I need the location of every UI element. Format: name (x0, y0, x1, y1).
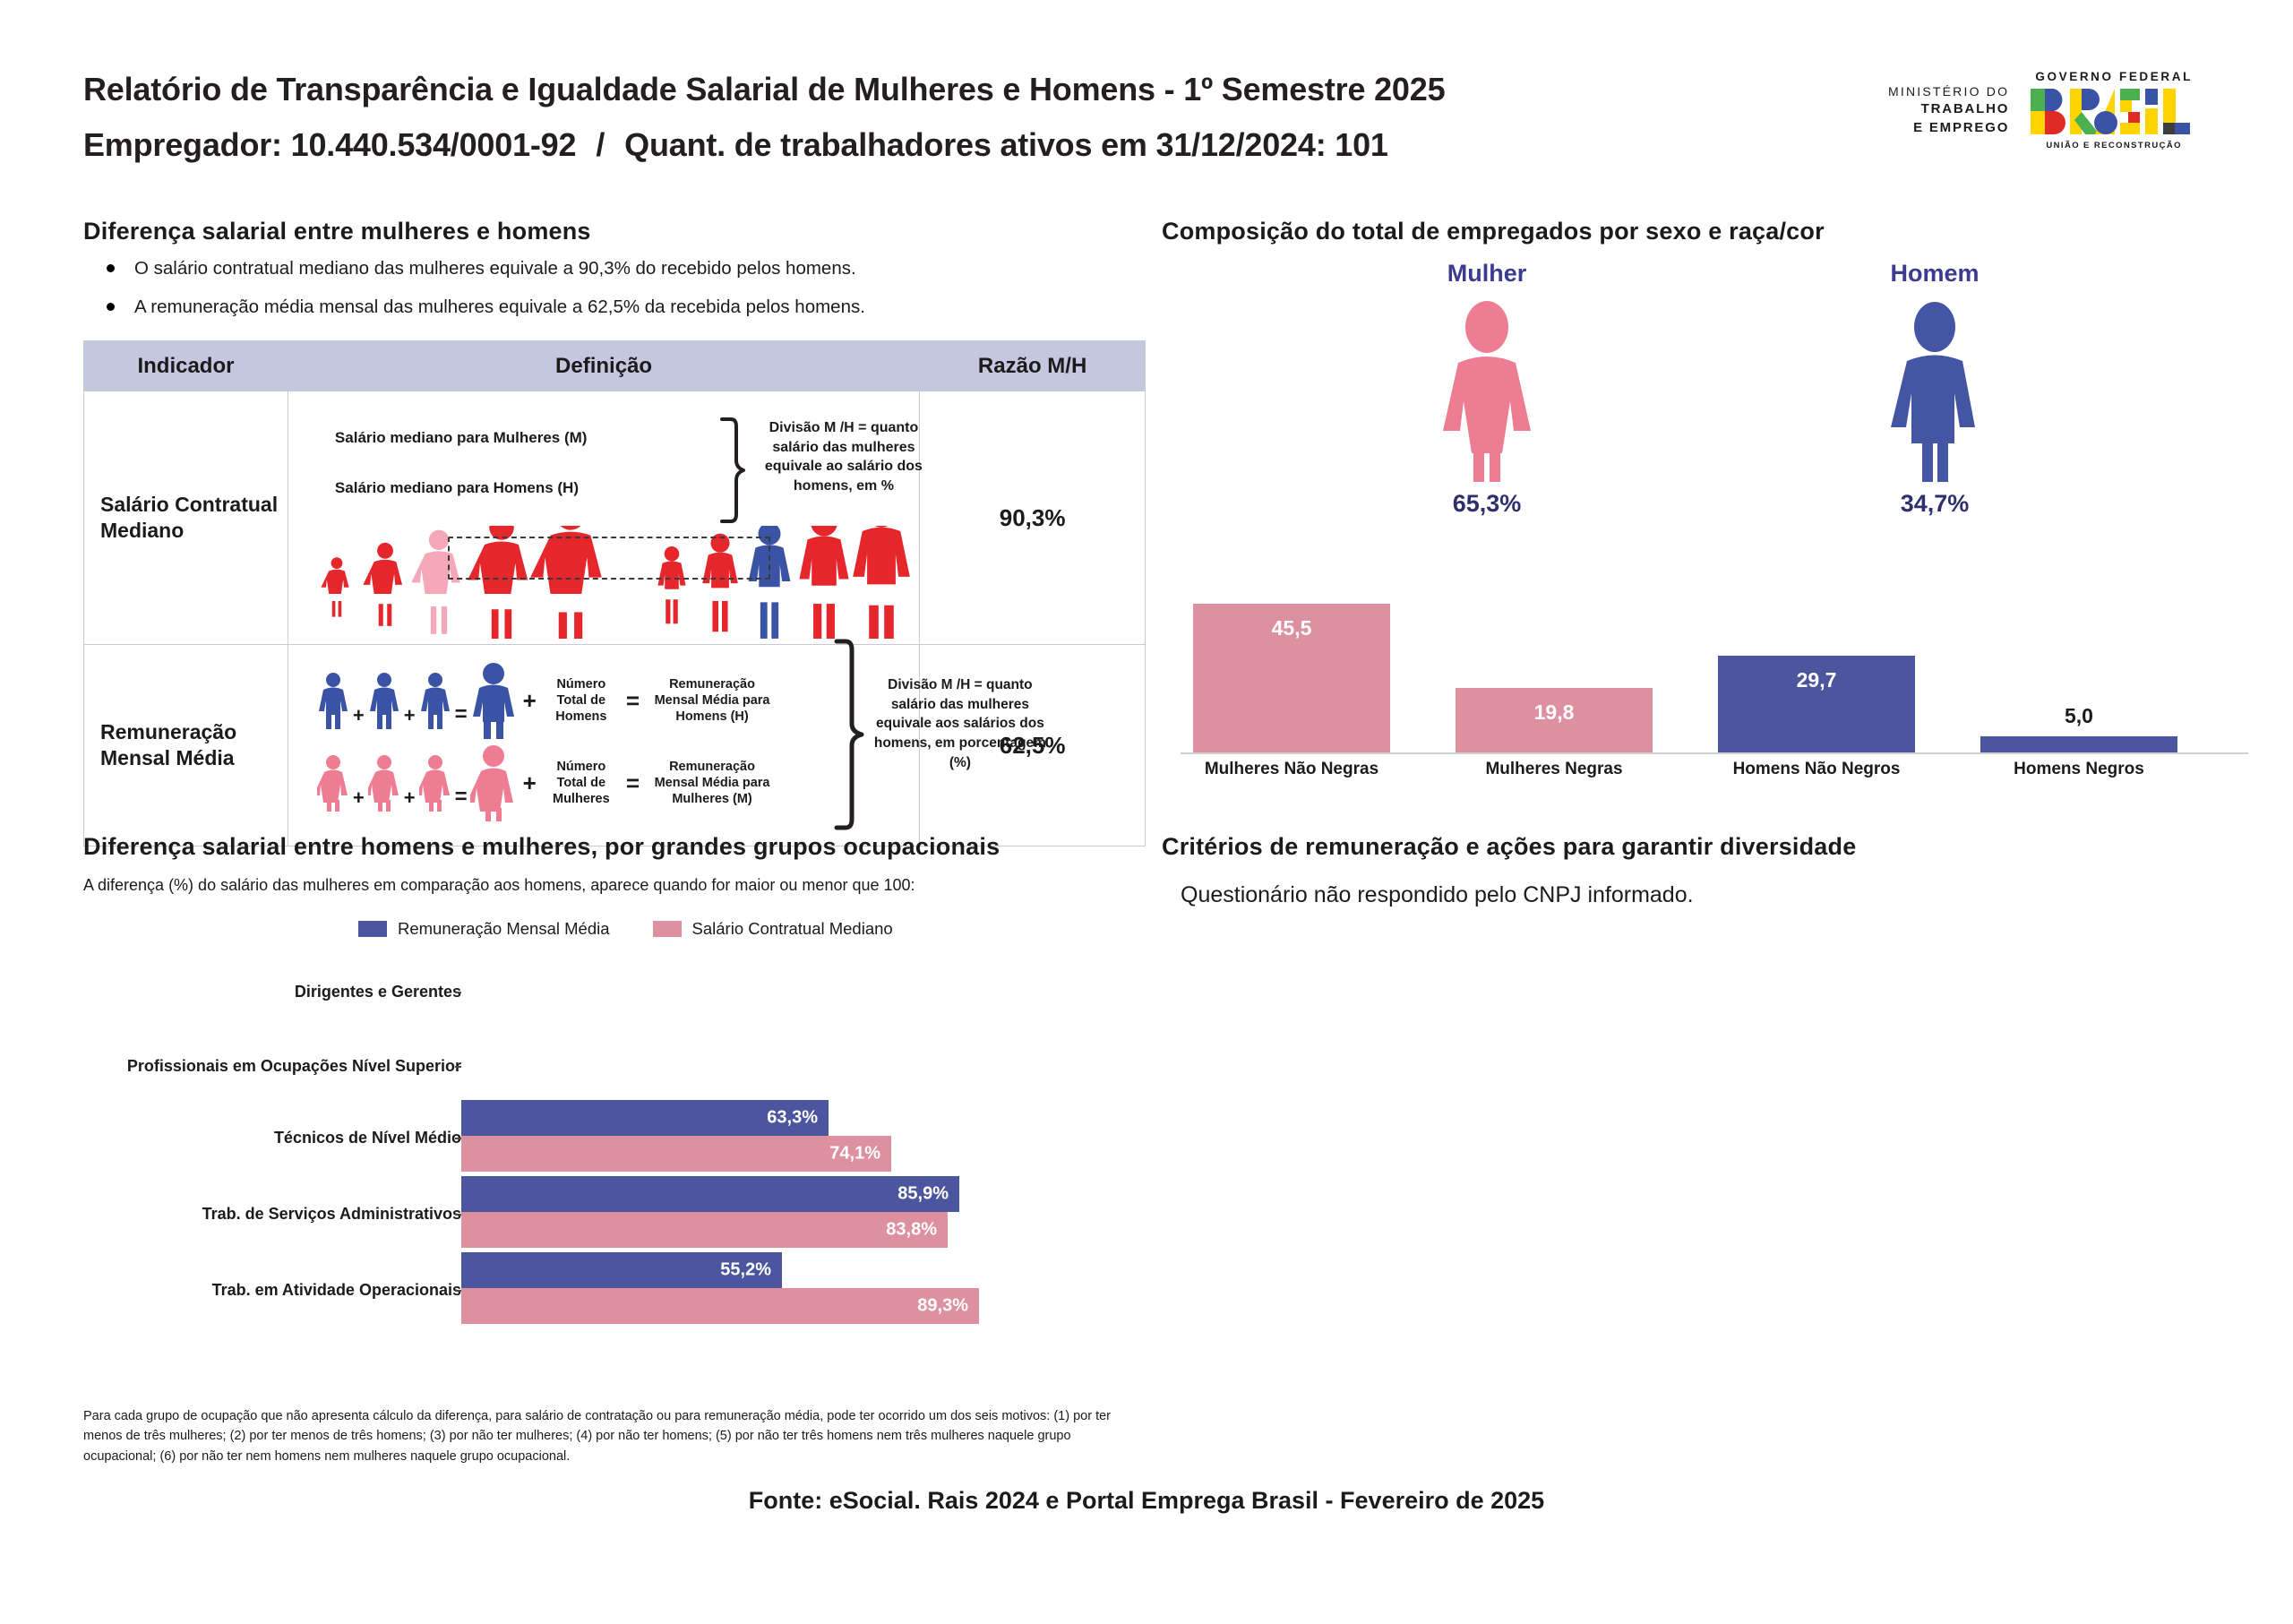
occ-bar-value: 63,3% (767, 1108, 818, 1129)
woman-small-icon (317, 753, 349, 812)
equals-operator: = (620, 687, 645, 715)
race-bar-mulheres-nao-negras: 45,5 (1193, 604, 1390, 752)
curly-brace-icon (831, 638, 867, 846)
table-row: Salário Contratual Mediano Salário media… (84, 391, 1146, 645)
equals-operator: = (620, 769, 645, 797)
occupational-subtitle: A diferença (%) do salário das mulheres … (83, 876, 915, 895)
pictogram-highlight-box (448, 537, 770, 580)
occupational-chart: Dirigentes e Gerentes Profissionais em O… (83, 972, 1069, 1330)
man-small-icon (368, 671, 400, 730)
man-small-icon (419, 671, 451, 730)
women-total-caption: Número Total de Mulheres (543, 759, 620, 807)
governo-federal-label: GOVERNO FEDERAL (2035, 70, 2193, 83)
uniao-reconstrucao-label: UNIÃO E RECONSTRUÇÃO (2046, 141, 2182, 150)
man-small-icon (317, 671, 349, 730)
plus-operator: + (400, 704, 419, 727)
occ-group-label: Dirigentes e Gerentes (295, 983, 461, 1001)
occ-bar-remuneracao: 55,2% (461, 1252, 782, 1288)
race-bar-mulheres-negras: 19,8 (1456, 688, 1653, 752)
plus-operator: + (517, 769, 543, 797)
axis-tick-icon (455, 992, 461, 993)
pay-gap-heading: Diferença salarial entre mulheres e home… (83, 218, 591, 245)
man-large-icon (470, 661, 517, 740)
table-header-row: Indicador Definição Razão M/H (84, 341, 1146, 391)
women-average-pay-equation: + + = (317, 743, 779, 822)
race-bar-value: 29,7 (1718, 668, 1915, 692)
occ-group-label: Trab. em Atividade Operacionais (212, 1281, 461, 1300)
race-bar-value: 45,5 (1193, 616, 1390, 640)
occ-bar-salario: 74,1% (461, 1136, 891, 1172)
occupational-footnote: Para cada grupo de ocupação que não apre… (83, 1406, 1145, 1466)
men-average-pay-caption: Remuneração Mensal Média para Homens (H) (645, 676, 779, 725)
legend-label: Salário Contratual Mediano (692, 919, 893, 939)
equals-operator: = (451, 785, 470, 810)
occ-bars-tecnicos: 63,3% 74,1% (461, 1100, 891, 1172)
employer-line: Empregador: 10.440.534/0001-92/Quant. de… (83, 129, 1445, 161)
ministry-wordmark: MINISTÉRIO DO TRABALHO E EMPREGO (1888, 83, 2009, 138)
occupational-legend: Remuneração Mensal Média Salário Contrat… (358, 919, 893, 939)
column-header-indicator: Indicador (84, 341, 288, 391)
table-row: Remuneração Mensal Média + (84, 645, 1146, 846)
race-composition-chart: 45,5 19,8 29,7 5,0 Mulheres Não Negras M… (1181, 591, 2248, 788)
woman-small-icon (368, 753, 400, 812)
axis-tick-icon (455, 1290, 461, 1292)
report-title: Relatório de Transparência e Igualdade S… (83, 73, 1445, 106)
legend-item-salario: Salário Contratual Mediano (653, 919, 893, 939)
race-axis-label: Mulheres Não Negras (1193, 760, 1390, 779)
legend-label: Remuneração Mensal Média (398, 919, 610, 939)
occ-bar-value: 85,9% (897, 1184, 949, 1205)
pay-gap-bullet-list: O salário contratual mediano das mulhere… (99, 258, 865, 334)
man-figure-icon (1885, 300, 1984, 484)
report-page: Relatório de Transparência e Igualdade S… (0, 0, 2293, 1624)
row-definition-median-salary: Salário mediano para Mulheres (M) Salári… (288, 391, 919, 645)
occ-bar-salario: 83,8% (461, 1212, 948, 1248)
page-header: Relatório de Transparência e Igualdade S… (0, 0, 2293, 188)
average-pay-explanation: Divisão M /H = quanto salário das mulher… (871, 675, 1050, 772)
occupational-heading: Diferença salarial entre homens e mulher… (83, 833, 1000, 861)
composition-heading: Composição do total de empregados por se… (1162, 218, 1825, 245)
criteria-body: Questionário não respondido pelo CNPJ in… (1181, 882, 1694, 908)
brasil-flag-logo-icon (2029, 87, 2199, 137)
row-indicator-average-pay: Remuneração Mensal Média (84, 645, 288, 846)
column-header-definition: Definição (288, 341, 919, 391)
title-block: Relatório de Transparência e Igualdade S… (83, 73, 1445, 161)
source-footer: Fonte: eSocial. Rais 2024 e Portal Empre… (0, 1487, 2293, 1515)
gender-composition-figures: Mulher 65,3% Homem 3 (1191, 260, 2230, 555)
brasil-logo: GOVERNO FEDERAL (2029, 70, 2199, 150)
plus-operator: + (400, 786, 419, 810)
table-header: Indicador Definição Razão M/H (84, 341, 1146, 391)
employer-label: Empregador: 10.440.534/0001-92 (83, 126, 576, 163)
man-composition-block: Homem 34,7% (1800, 260, 2069, 518)
criteria-heading: Critérios de remuneração e ações para ga… (1162, 833, 1856, 861)
header-separator: / (576, 129, 624, 161)
plus-operator: + (349, 786, 368, 810)
occ-bars-operacionais: 55,2% 89,3% (461, 1252, 979, 1324)
plus-operator: + (349, 704, 368, 727)
occ-bars-administrativos: 85,9% 83,8% (461, 1176, 959, 1248)
row-indicator-median-salary: Salário Contratual Mediano (84, 391, 288, 645)
occ-bar-value: 55,2% (720, 1260, 771, 1281)
row-ratio-median-salary: 90,3% (920, 391, 1146, 645)
race-chart-axis-labels: Mulheres Não Negras Mulheres Negras Home… (1181, 754, 2248, 785)
median-salary-men-label: Salário mediano para Homens (H) (335, 479, 579, 497)
race-bar-value: 19,8 (1456, 700, 1653, 725)
men-average-pay-equation: + + = (317, 661, 779, 740)
active-workers-label: Quant. de trabalhadores ativos em 31/12/… (624, 126, 1388, 163)
legend-swatch-blue (358, 921, 387, 937)
woman-percentage: 65,3% (1353, 490, 1621, 518)
indicator-table: Indicador Definição Razão M/H Salário Co… (83, 340, 1146, 846)
legend-item-remuneracao: Remuneração Mensal Média (358, 919, 610, 939)
axis-tick-icon (455, 1066, 461, 1068)
occ-bar-value: 89,3% (917, 1296, 968, 1317)
occ-group-label: Profissionais em Ocupações Nível Superio… (127, 1057, 461, 1076)
race-bar-value: 5,0 (1980, 704, 2177, 728)
ministry-line-2: TRABALHO (1888, 100, 2009, 119)
occ-bar-salario: 89,3% (461, 1288, 979, 1324)
woman-small-icon (419, 753, 451, 812)
list-item: A remuneração média mensal das mulheres … (99, 296, 865, 319)
occ-group-label: Trab. de Serviços Administrativos (202, 1205, 461, 1224)
man-label: Homem (1800, 260, 2069, 288)
ministry-line-1: MINISTÉRIO DO (1888, 83, 2009, 100)
table-body: Salário Contratual Mediano Salário media… (84, 391, 1146, 846)
race-bar-homens-negros: 5,0 (1980, 736, 2177, 752)
column-header-ratio: Razão M/H (920, 341, 1146, 391)
row-definition-average-pay: + + = (288, 645, 919, 846)
woman-composition-block: Mulher 65,3% (1353, 260, 1621, 518)
plus-operator: + (517, 687, 543, 715)
axis-tick-icon (455, 1214, 461, 1216)
woman-label: Mulher (1353, 260, 1621, 288)
women-average-pay-caption: Remuneração Mensal Média para Mulheres (… (645, 759, 779, 807)
equals-operator: = (451, 702, 470, 727)
occ-bar-value: 83,8% (886, 1220, 937, 1241)
median-salary-women-label: Salário mediano para Mulheres (M) (335, 429, 588, 447)
occ-group-label: Técnicos de Nível Médio (274, 1129, 461, 1147)
man-percentage: 34,7% (1800, 490, 2069, 518)
legend-swatch-pink (653, 921, 682, 937)
axis-tick-icon (455, 1138, 461, 1139)
curly-brace-icon (717, 417, 749, 524)
men-total-caption: Número Total de Homens (543, 676, 620, 725)
race-bar-homens-nao-negros: 29,7 (1718, 656, 1915, 752)
list-item: O salário contratual mediano das mulhere… (99, 258, 865, 280)
occ-bar-remuneracao: 63,3% (461, 1100, 829, 1136)
race-axis-label: Mulheres Negras (1456, 760, 1653, 779)
woman-large-icon (470, 743, 517, 822)
occ-bar-remuneracao: 85,9% (461, 1176, 959, 1212)
occ-bar-value: 74,1% (829, 1144, 880, 1164)
woman-figure-icon (1438, 300, 1536, 484)
race-axis-label: Homens Não Negros (1718, 760, 1915, 779)
median-salary-explanation: Divisão M /H = quanto salário das mulher… (754, 418, 933, 495)
ministry-line-3: E EMPREGO (1888, 119, 2009, 138)
salary-pictogram-row (297, 526, 915, 639)
government-logo-area: MINISTÉRIO DO TRABALHO E EMPREGO GOVERNO… (1888, 70, 2199, 150)
race-axis-label: Homens Negros (1980, 760, 2177, 779)
race-chart-plot: 45,5 19,8 29,7 5,0 (1181, 591, 2248, 754)
